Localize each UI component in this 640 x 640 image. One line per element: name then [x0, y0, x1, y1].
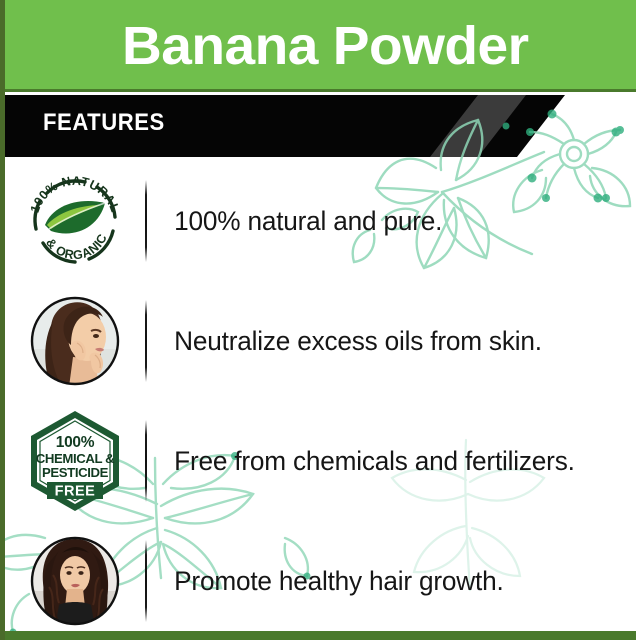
section-label: FEATURES [43, 109, 165, 137]
svg-text:& ORGANIC: & ORGANIC [43, 231, 110, 262]
feature-row: Promote healthy hair growth. [5, 522, 640, 640]
woman-touching-face-photo-icon [29, 295, 121, 387]
page-title: Banana Powder [122, 19, 529, 73]
feature-row: 100% NATURAL & ORGANIC 100% natural and … [5, 162, 640, 280]
svg-text:CHEMICAL &: CHEMICAL & [36, 451, 115, 466]
feature-text: Free from chemicals and fertilizers. [147, 446, 630, 477]
feature-icon-cell: 100% NATURAL & ORGANIC [5, 169, 145, 273]
feature-icon-cell [5, 295, 145, 387]
chemical-pesticide-free-hexagon-icon: 100% CHEMICAL & PESTICIDE FREE [23, 409, 127, 513]
feature-text: Promote healthy hair growth. [147, 566, 630, 597]
feature-icon-cell [5, 535, 145, 627]
svg-text:FREE: FREE [55, 484, 96, 500]
svg-text:100%: 100% [56, 434, 95, 451]
title-banner: Banana Powder [5, 0, 640, 92]
woman-long-hair-photo-icon [29, 535, 121, 627]
bottom-green-strip [5, 631, 640, 640]
feature-text: 100% natural and pure. [147, 206, 630, 237]
features-header-bar: FEATURES [5, 95, 640, 157]
product-feature-poster: Banana Powder FEATURES [0, 0, 640, 640]
feature-row: Neutralize excess oils from skin. [5, 282, 640, 400]
feature-row: 100% CHEMICAL & PESTICIDE FREE Free from… [5, 402, 640, 520]
feature-icon-cell: 100% CHEMICAL & PESTICIDE FREE [5, 409, 145, 513]
feature-text: Neutralize excess oils from skin. [147, 326, 630, 357]
svg-text:PESTICIDE: PESTICIDE [42, 465, 109, 480]
natural-organic-seal-icon: 100% NATURAL & ORGANIC [23, 169, 127, 273]
